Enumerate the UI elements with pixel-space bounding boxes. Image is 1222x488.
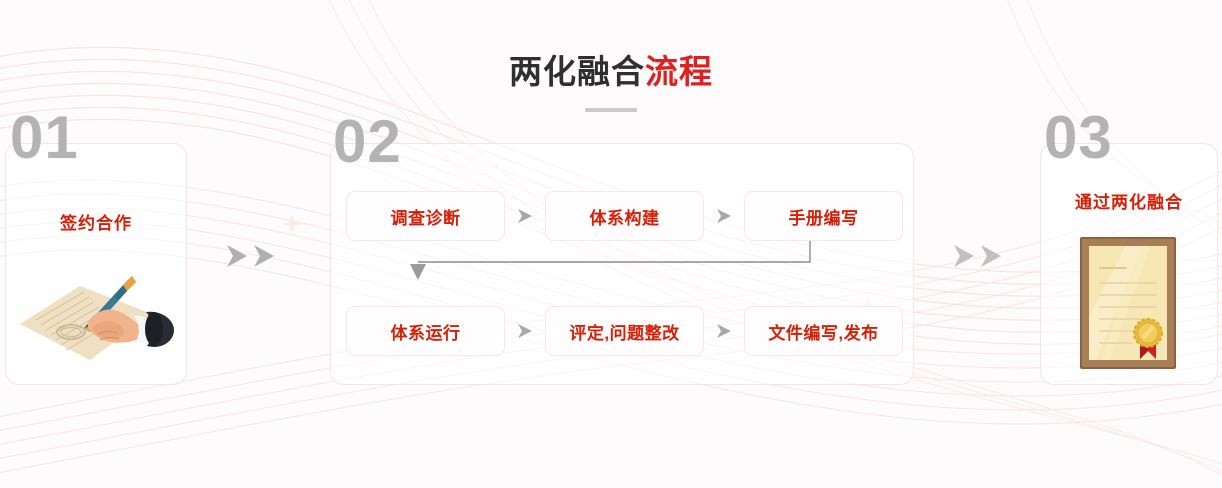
- flow-box-system-build[interactable]: 体系构建: [545, 191, 704, 241]
- flow-box-manual-writing[interactable]: 手册编写: [744, 191, 903, 241]
- flow-box-diagnosis[interactable]: 调查诊断: [346, 191, 505, 241]
- separator-step2-step3: [952, 242, 1005, 270]
- chevron-right-icon: [515, 207, 535, 225]
- flow-arrow-4: [704, 322, 744, 340]
- page-title: 两化融合流程: [0, 52, 1222, 112]
- flow-arrow-3: [505, 322, 545, 340]
- step-number-02: 02: [333, 112, 402, 172]
- flow-box-document-publish[interactable]: 文件编写,发布: [744, 306, 903, 356]
- page-title-primary: 两化融合: [509, 53, 645, 90]
- double-chevron-right-icon: [979, 242, 1005, 270]
- contract-signing-icon: [14, 262, 178, 366]
- double-chevron-right-icon: [225, 242, 251, 270]
- chevron-right-icon: [515, 322, 535, 340]
- flow-box-system-operation[interactable]: 体系运行: [346, 306, 505, 356]
- double-chevron-right-icon: [952, 242, 978, 270]
- flow-arrow-1: [505, 207, 545, 225]
- step-number-03: 03: [1044, 108, 1113, 168]
- step-card-03-heading: 通过两化融合: [1041, 188, 1217, 213]
- title-divider: [585, 108, 637, 112]
- double-chevron-right-icon: [252, 242, 278, 270]
- step-card-01-heading: 签约合作: [6, 209, 186, 234]
- separator-step1-step2: [225, 242, 278, 270]
- page-title-accent: 流程: [645, 53, 713, 90]
- step-number-01: 01: [10, 108, 79, 168]
- flow-row-bottom: 体系运行 评定,问题整改 文件编写,发布: [346, 306, 903, 356]
- certificate-icon: [1080, 237, 1176, 369]
- flow-row-top: 调查诊断 体系构建 手册编写: [346, 191, 903, 241]
- flow-arrow-2: [704, 207, 744, 225]
- chevron-right-icon: [714, 207, 734, 225]
- chevron-right-icon: [714, 322, 734, 340]
- flow-box-assessment-rectification[interactable]: 评定,问题整改: [545, 306, 704, 356]
